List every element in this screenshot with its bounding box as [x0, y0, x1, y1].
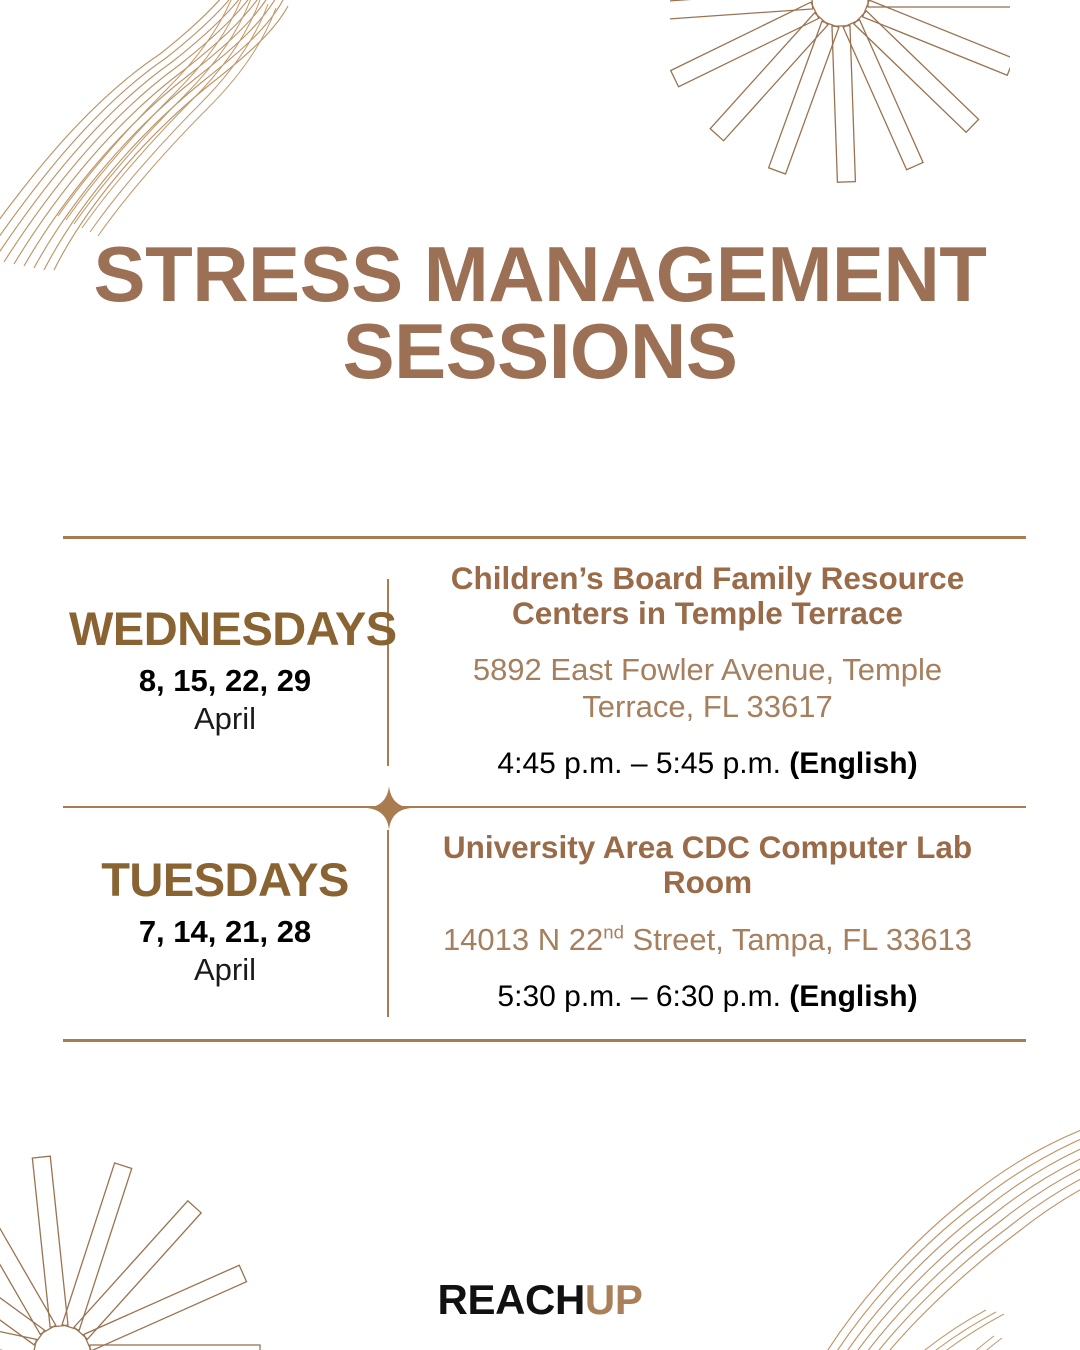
schedule-row-day-cell: WEDNESDAYS 8, 15, 22, 29 April	[63, 579, 389, 766]
schedule-row: WEDNESDAYS 8, 15, 22, 29 April Children’…	[63, 539, 1026, 806]
schedule-row-info-cell: Children’s Board Family Resource Centers…	[389, 539, 1026, 806]
address-text: 14013 N 22	[443, 922, 603, 957]
address-text-tail: Street, Tampa, FL 33613	[624, 922, 972, 957]
brand-logo-reach: REACH	[438, 1276, 585, 1323]
schedule-row-day-cell: TUESDAYS 7, 14, 21, 28 April	[63, 830, 389, 1017]
address-ordinal-suffix: nd	[603, 921, 624, 942]
day-month: April	[69, 953, 381, 987]
day-month: April	[69, 702, 381, 736]
day-name: WEDNESDAYS	[69, 605, 381, 654]
page-title: STRESS MANAGEMENT SESSIONS	[0, 236, 1080, 390]
address-text: 5892 East Fowler Avenue, Temple Terrace,…	[473, 652, 942, 724]
time-range: 4:45 p.m. – 5:45 p.m.	[497, 747, 789, 780]
schedule-row: TUESDAYS 7, 14, 21, 28 April University …	[63, 806, 1026, 1039]
poster-canvas: STRESS MANAGEMENT SESSIONS WEDNESDAYS 8,…	[0, 0, 1080, 1350]
day-dates: 7, 14, 21, 28	[69, 915, 381, 949]
brand-logo-up: UP	[585, 1276, 643, 1323]
sunburst-rays-ornament-top-right	[670, 0, 1010, 200]
session-language: (English)	[789, 747, 917, 780]
time-range: 5:30 p.m. – 6:30 p.m.	[497, 980, 789, 1013]
session-language: (English)	[789, 980, 917, 1013]
schedule-row-info-cell: University Area CDC Computer Lab Room 14…	[389, 808, 1026, 1039]
day-name: TUESDAYS	[69, 856, 381, 905]
venue-name: University Area CDC Computer Lab Room	[417, 830, 998, 899]
venue-address: 14013 N 22nd Street, Tampa, FL 33613	[417, 922, 998, 959]
venue-address: 5892 East Fowler Avenue, Temple Terrace,…	[417, 652, 998, 725]
venue-name: Children’s Board Family Resource Centers…	[417, 561, 998, 630]
schedule-table: WEDNESDAYS 8, 15, 22, 29 April Children’…	[63, 536, 1026, 1042]
session-time: 4:45 p.m. – 5:45 p.m. (English)	[417, 747, 998, 780]
session-time: 5:30 p.m. – 6:30 p.m. (English)	[417, 980, 998, 1013]
day-dates: 8, 15, 22, 29	[69, 664, 381, 698]
brand-logo: REACHUP	[0, 1276, 1080, 1324]
